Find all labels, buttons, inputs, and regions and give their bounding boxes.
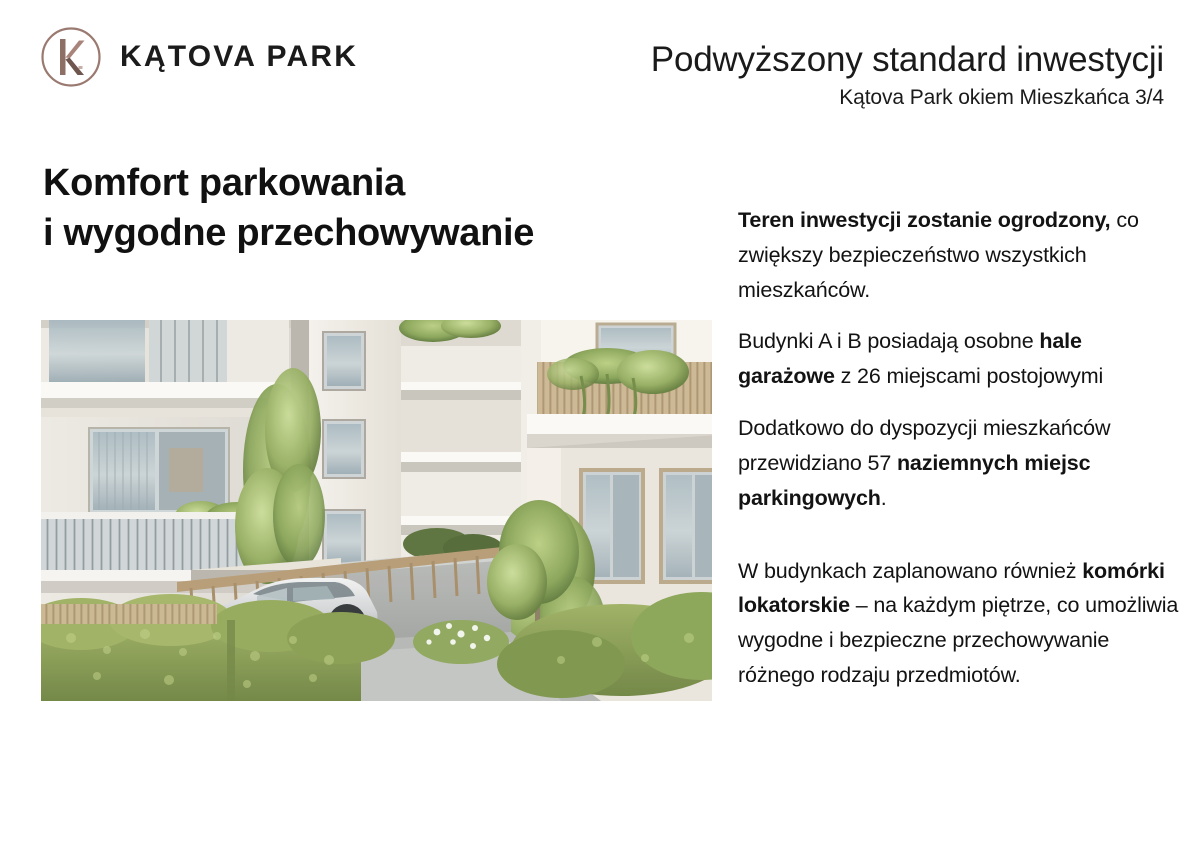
project-visualization-photo bbox=[41, 320, 712, 701]
paragraph-storage-units: W budynkach zaplanowano również komórki … bbox=[738, 554, 1184, 693]
body-text: . bbox=[881, 486, 887, 510]
body-text: W budynkach zaplanowano również bbox=[738, 559, 1082, 583]
section-heading: Komfort parkowania i wygodne przechowywa… bbox=[43, 158, 683, 258]
body-copy-column: Teren inwestycji zostanie ogrodzony, co … bbox=[738, 203, 1184, 693]
paragraph-fencing: Teren inwestycji zostanie ogrodzony, co … bbox=[738, 203, 1184, 307]
paragraph-surface-parking: Dodatkowo do dyspozycji mieszkańców prze… bbox=[738, 411, 1184, 515]
section-heading-line-1: Komfort parkowania bbox=[43, 158, 683, 208]
page-title: Podwyższony standard inwestycji bbox=[544, 40, 1164, 79]
header-text-block: Podwyższony standard inwestycji Kątova P… bbox=[544, 40, 1164, 110]
page-subtitle: Kątova Park okiem Mieszkańca 3/4 bbox=[544, 85, 1164, 110]
section-heading-line-2: i wygodne przechowywanie bbox=[43, 208, 683, 258]
body-text: Budynki A i B posiadają osobne bbox=[738, 329, 1039, 353]
brand-lockup: KĄTOVA PARK bbox=[40, 26, 358, 88]
emphasis-text: Teren inwestycji zostanie ogrodzony, bbox=[738, 208, 1111, 232]
katova-k-monogram-circle-icon bbox=[40, 26, 102, 88]
brand-name: KĄTOVA PARK bbox=[120, 42, 358, 72]
paragraph-garage-halls: Budynki A i B posiadają osobne hale gara… bbox=[738, 324, 1184, 394]
body-text: z 26 miejscami postojowymi bbox=[835, 364, 1103, 388]
slide-root: KĄTOVA PARK Podwyższony standard inwesty… bbox=[0, 0, 1200, 847]
visualization-illustration bbox=[41, 320, 712, 701]
